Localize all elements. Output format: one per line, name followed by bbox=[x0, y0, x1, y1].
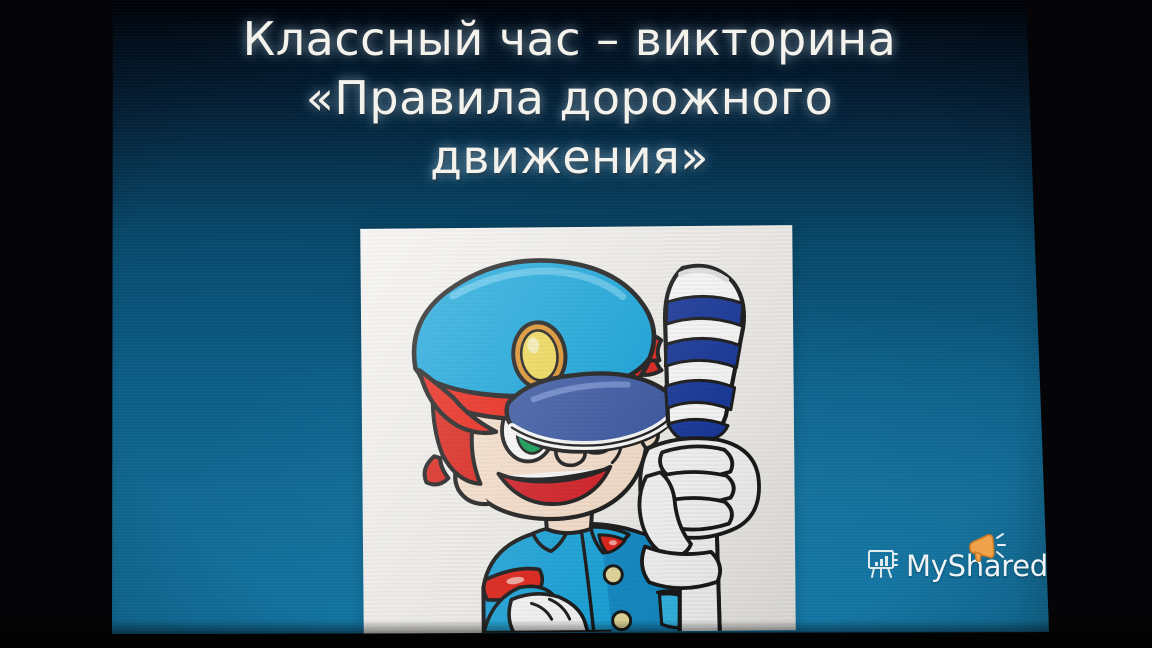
megaphone-icon bbox=[964, 532, 1006, 570]
title-line-2: «Правила дорожного bbox=[113, 69, 1026, 128]
police-cap bbox=[413, 259, 676, 453]
presentation-slide: Классный час – викторина «Правила дорожн… bbox=[0, 0, 1152, 648]
slide-title: Классный час – викторина «Правила дорожн… bbox=[113, 4, 1026, 187]
illustration-panel bbox=[360, 225, 796, 634]
title-line-3: движения» bbox=[113, 128, 1026, 187]
title-line-1: Классный час – викторина bbox=[113, 10, 1026, 69]
myshared-watermark: MyShared bbox=[866, 548, 1048, 584]
presentation-board-icon bbox=[866, 548, 900, 584]
watermark-text-wrap: MyShared bbox=[906, 548, 1048, 584]
right-glove bbox=[639, 438, 760, 589]
cartoon-policeman-illustration bbox=[360, 225, 796, 634]
projector-photo-frame: Классный час – викторина «Правила дорожн… bbox=[0, 0, 1152, 648]
